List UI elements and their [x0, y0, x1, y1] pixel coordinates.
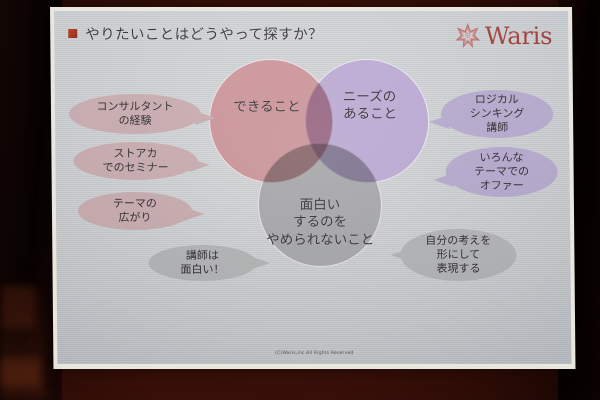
waris-logo: Waris — [455, 23, 553, 48]
slide-title-row: やりたいことはどうやって探すか？ — [68, 23, 323, 44]
callout-right-2: いろんな テーマでの オファー — [445, 147, 557, 197]
callout-right-1: ロジカル シンキング 講師 — [441, 90, 553, 138]
copyright-footer: (C)Waris,inc.All Rights Reserved — [57, 351, 571, 356]
venn-label-left: できること — [221, 99, 313, 116]
venn-label-bottom: 面白い するのを やめられないこと — [252, 197, 389, 249]
callout-left-2: ストアカ でのセミナー — [73, 142, 197, 180]
projected-slide-photo: やりたいことはどうやって探すか？ Waris — [0, 0, 600, 400]
eight-point-flower-icon — [455, 23, 480, 48]
callout-left-1: コンサルタント の経験 — [69, 94, 201, 134]
logo-wordmark: Waris — [485, 23, 553, 47]
callout-left-3: テーマの 広がり — [78, 192, 192, 230]
presentation-slide: やりたいことはどうやって探すか？ Waris — [54, 11, 571, 364]
callout-bottom-left: 講師は 面白い！ — [148, 245, 256, 281]
projection-screen-frame: やりたいことはどうやって探すか？ Waris — [50, 7, 575, 369]
venn-label-right: ニーズの あること — [343, 89, 429, 124]
room-left-glow-lower — [0, 358, 40, 386]
page-title: やりたいことはどうやって探すか？ — [85, 23, 323, 44]
callout-bottom-right: 自分の考えを 形にして 表現する — [400, 229, 517, 281]
square-bullet-icon — [68, 29, 77, 38]
room-left-glow-upper — [2, 286, 36, 328]
